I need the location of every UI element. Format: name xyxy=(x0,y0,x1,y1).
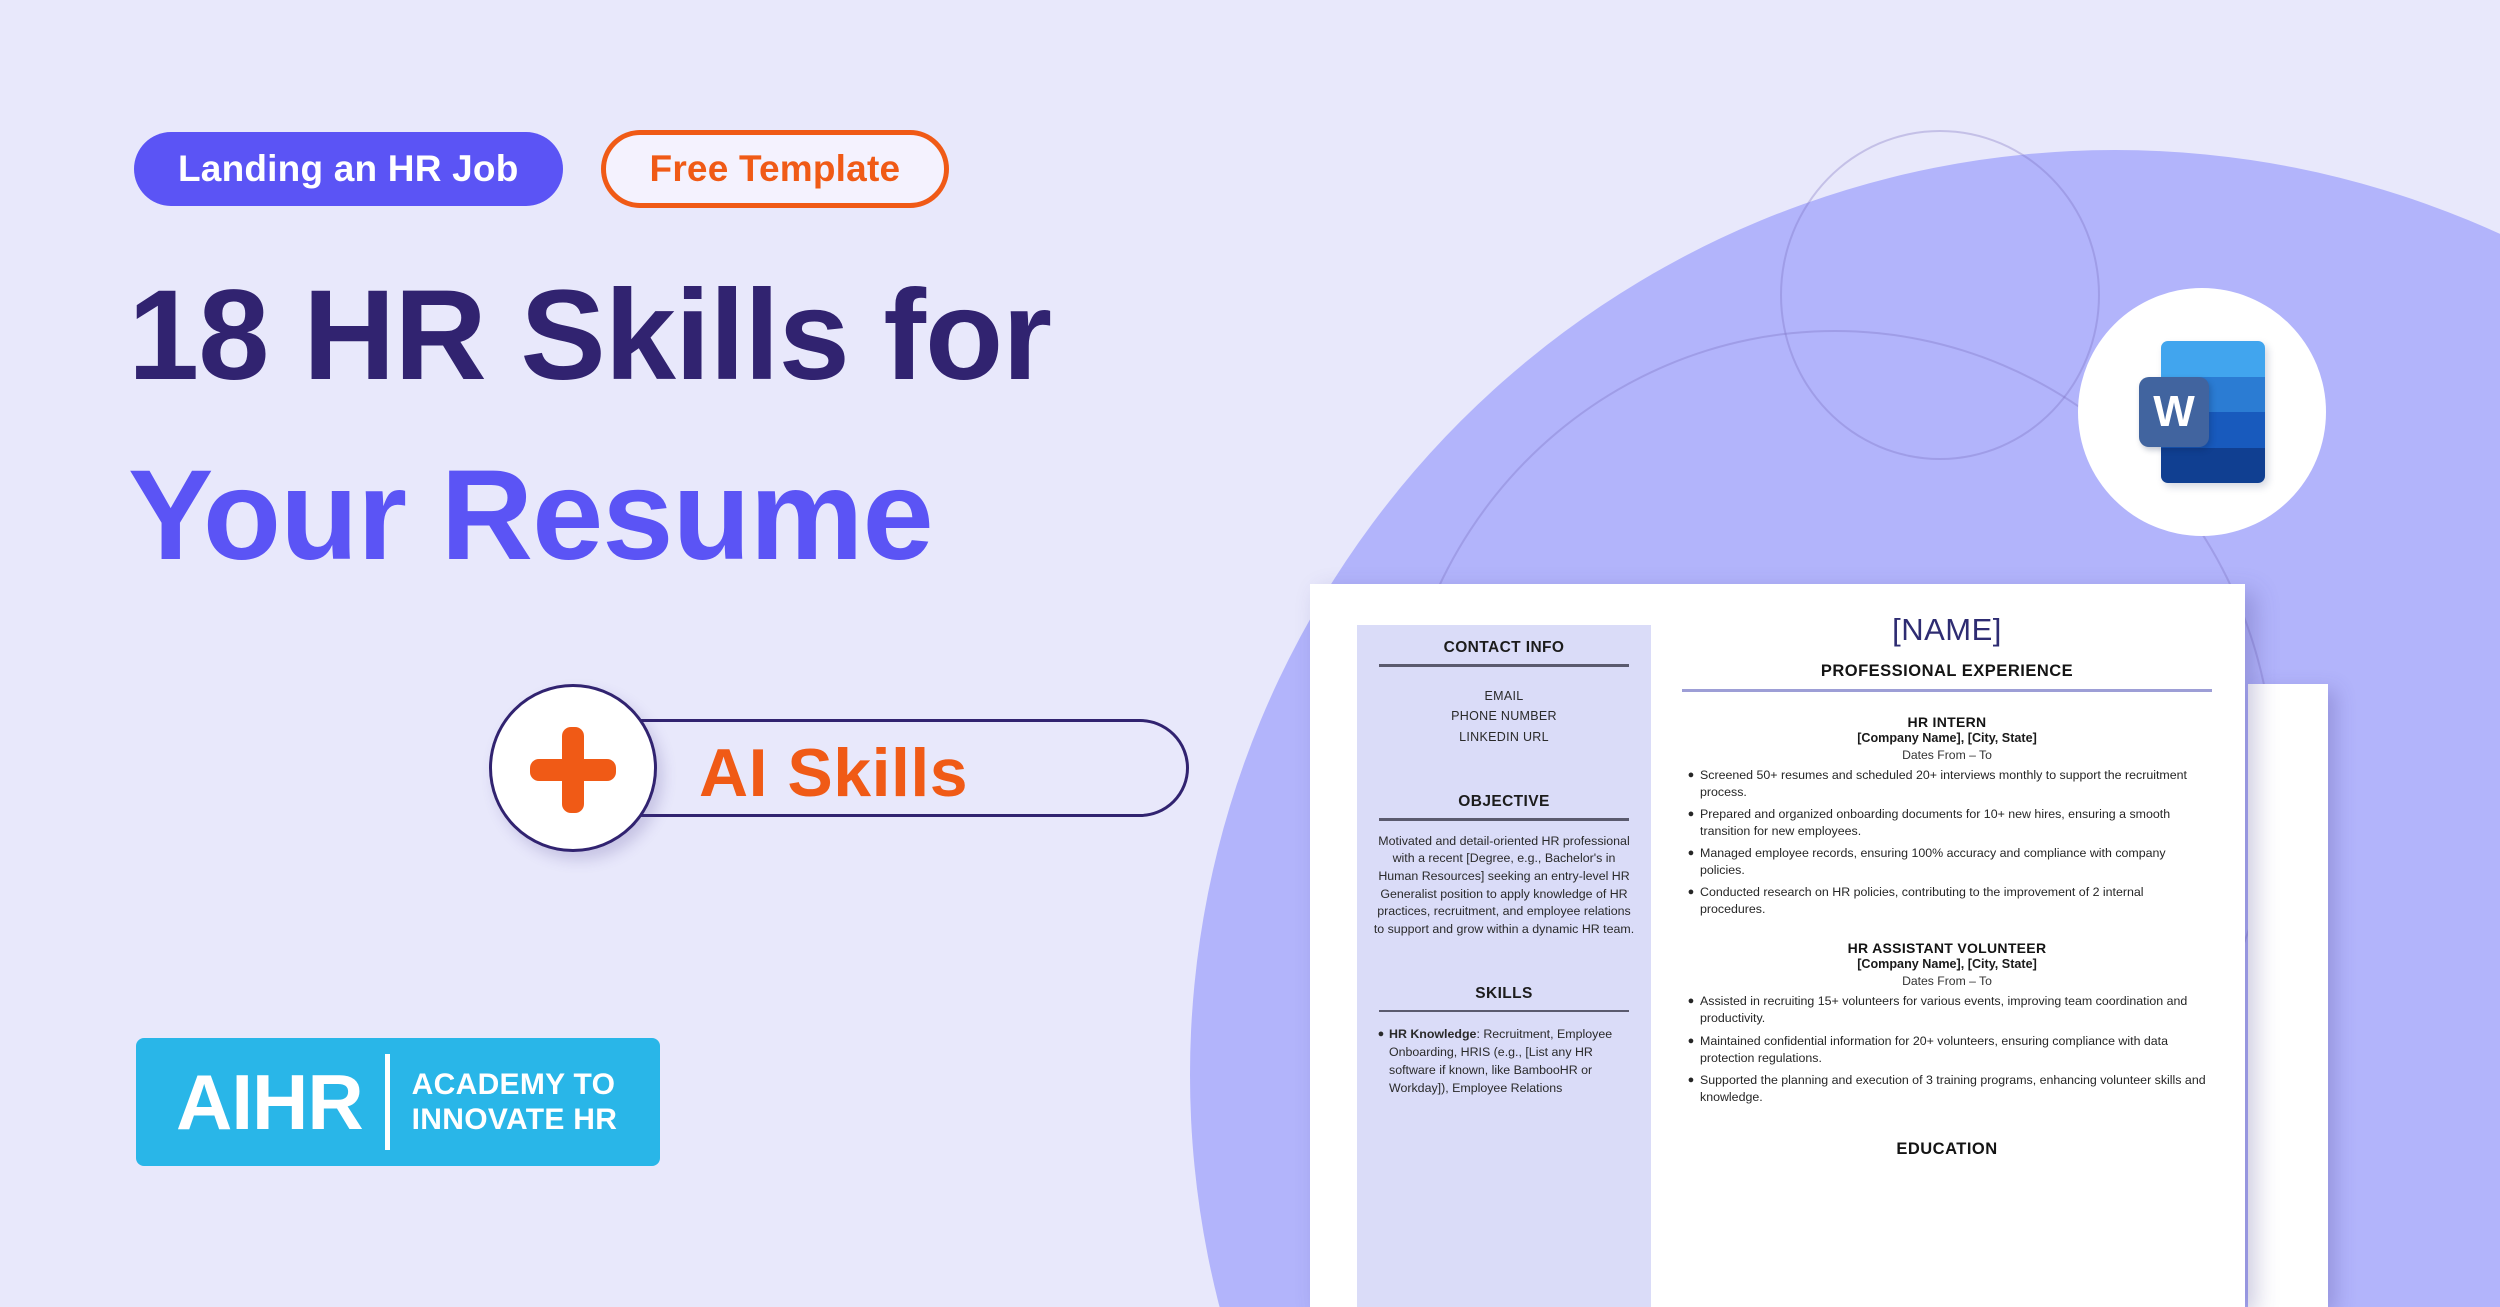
bullet-icon: ● xyxy=(1682,845,1700,879)
logo-wordmark: AIHR xyxy=(176,1063,363,1141)
bullet-icon: ● xyxy=(1682,806,1700,840)
job-bullet-text: Assisted in recruiting 15+ volunteers fo… xyxy=(1700,993,2212,1027)
logo-tagline: ACADEMY TO INNOVATE HR xyxy=(412,1067,618,1138)
job-bullet: ●Prepared and organized onboarding docum… xyxy=(1682,806,2212,840)
logo-divider xyxy=(385,1054,390,1150)
skill-text: HR Knowledge: Recruitment, Employee Onbo… xyxy=(1389,1026,1635,1098)
title-line-1: 18 HR Skills for xyxy=(128,272,1051,400)
skills-heading: SKILLS xyxy=(1373,985,1635,1003)
job-bullet-text: Screened 50+ resumes and scheduled 20+ i… xyxy=(1700,767,2212,801)
objective-heading: OBJECTIVE xyxy=(1373,793,1635,811)
resume-document[interactable]: CONTACT INFO EMAIL PHONE NUMBER LINKEDIN… xyxy=(1310,584,2245,1307)
plus-icon[interactable] xyxy=(489,684,657,852)
bullet-icon: ● xyxy=(1373,1026,1389,1098)
job-bullet: ●Screened 50+ resumes and scheduled 20+ … xyxy=(1682,767,2212,801)
job-company: [Company Name], [City, State] xyxy=(1682,731,2212,745)
job-bullet-text: Conducted research on HR policies, contr… xyxy=(1700,884,2212,918)
job-bullet: ●Maintained confidential information for… xyxy=(1682,1033,2212,1067)
job-dates: Dates From – To xyxy=(1682,748,2212,762)
page-title: 18 HR Skills for Your Resume xyxy=(128,272,1051,580)
job-bullet: ●Managed employee records, ensuring 100%… xyxy=(1682,845,2212,879)
word-letter-tile: W xyxy=(2139,377,2209,447)
job-dates: Dates From – To xyxy=(1682,974,2212,988)
job-bullet: ●Conducted research on HR policies, cont… xyxy=(1682,884,2212,918)
job-bullet-text: Managed employee records, ensuring 100% … xyxy=(1700,845,2212,879)
job-bullet: ●Supported the planning and execution of… xyxy=(1682,1072,2212,1106)
content-column: Landing an HR Job Free Template 18 HR Sk… xyxy=(0,0,1300,1307)
badge-free-template[interactable]: Free Template xyxy=(601,130,950,208)
objective-rule xyxy=(1379,818,1629,821)
job-bullet-text: Maintained confidential information for … xyxy=(1700,1033,2212,1067)
contact-info-heading: CONTACT INFO xyxy=(1373,639,1635,657)
logo-tagline-line-1: ACADEMY TO xyxy=(412,1067,618,1102)
resume-page-behind xyxy=(2248,684,2328,1307)
experience-entry: HR INTERN [Company Name], [City, State] … xyxy=(1682,714,2212,919)
job-bullet-text: Supported the planning and execution of … xyxy=(1700,1072,2212,1106)
bullet-icon: ● xyxy=(1682,1033,1700,1067)
skills-rule xyxy=(1379,1010,1629,1013)
job-bullet-list: ●Screened 50+ resumes and scheduled 20+ … xyxy=(1682,767,2212,919)
resume-main-column: [NAME] PROFESSIONAL EXPERIENCE HR INTERN… xyxy=(1682,612,2212,1307)
contact-item: PHONE NUMBER xyxy=(1373,706,1635,727)
job-title: HR INTERN xyxy=(1682,714,2212,730)
objective-body: Motivated and detail-oriented HR profess… xyxy=(1373,833,1635,939)
bullet-icon: ● xyxy=(1682,767,1700,801)
contact-item: EMAIL xyxy=(1373,686,1635,707)
ai-skills-callout[interactable]: AI Skills xyxy=(489,708,1189,828)
ai-skills-label: AI Skills xyxy=(699,734,968,812)
contact-item: LINKEDIN URL xyxy=(1373,727,1635,748)
title-line-2: Your Resume xyxy=(128,452,1051,580)
bullet-icon: ● xyxy=(1682,993,1700,1027)
job-bullet-list: ●Assisted in recruiting 15+ volunteers f… xyxy=(1682,993,2212,1106)
badge-row: Landing an HR Job Free Template xyxy=(134,130,949,208)
job-company: [Company Name], [City, State] xyxy=(1682,957,2212,971)
skills-list-item: ● HR Knowledge: Recruitment, Employee On… xyxy=(1373,1026,1635,1098)
contact-info-list: EMAIL PHONE NUMBER LINKEDIN URL xyxy=(1373,686,1635,748)
resume-name: [NAME] xyxy=(1682,612,2212,648)
experience-heading: PROFESSIONAL EXPERIENCE xyxy=(1682,662,2212,681)
resume-sidebar: CONTACT INFO EMAIL PHONE NUMBER LINKEDIN… xyxy=(1357,625,1651,1307)
bullet-icon: ● xyxy=(1682,1072,1700,1106)
skill-label: HR Knowledge xyxy=(1389,1027,1476,1041)
job-bullet: ●Assisted in recruiting 15+ volunteers f… xyxy=(1682,993,2212,1027)
education-heading: EDUCATION xyxy=(1682,1140,2212,1159)
experience-rule xyxy=(1682,689,2212,692)
microsoft-word-icon: W xyxy=(2139,341,2265,483)
aihr-logo[interactable]: AIHR ACADEMY TO INNOVATE HR xyxy=(136,1038,660,1166)
logo-tagline-line-2: INNOVATE HR xyxy=(412,1102,618,1137)
experience-entry: HR ASSISTANT VOLUNTEER [Company Name], [… xyxy=(1682,940,2212,1106)
bullet-icon: ● xyxy=(1682,884,1700,918)
job-bullet-text: Prepared and organized onboarding docume… xyxy=(1700,806,2212,840)
job-title: HR ASSISTANT VOLUNTEER xyxy=(1682,940,2212,956)
promo-banner: Landing an HR Job Free Template 18 HR Sk… xyxy=(0,0,2500,1307)
contact-info-rule xyxy=(1379,664,1629,667)
microsoft-word-badge[interactable]: W xyxy=(2078,288,2326,536)
badge-category[interactable]: Landing an HR Job xyxy=(134,132,563,206)
